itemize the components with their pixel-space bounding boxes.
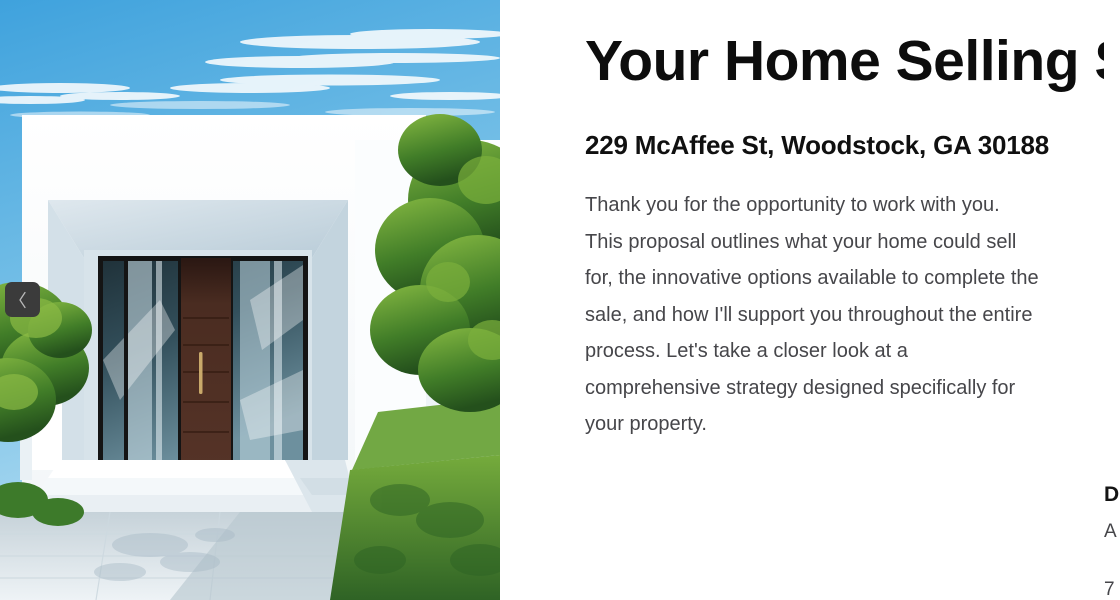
property-address-heading: 229 McAffee St, Woodstock, GA 30188 bbox=[585, 128, 1055, 163]
modern-white-house-illustration bbox=[0, 0, 500, 600]
chevron-left-icon bbox=[17, 291, 28, 309]
hero-image-panel bbox=[0, 0, 500, 600]
page-title: Your Home Selling Strategy bbox=[585, 26, 1120, 96]
content-inner: Your Home Selling Strategy 229 McAffee S… bbox=[585, 26, 1120, 443]
presentation-slide: Your Home Selling Strategy 229 McAffee S… bbox=[0, 0, 1120, 600]
slide-content-panel: Your Home Selling Strategy 229 McAffee S… bbox=[500, 0, 1120, 600]
edge-text-line-1: A bbox=[1104, 518, 1117, 546]
carousel-prev-button[interactable] bbox=[5, 282, 40, 317]
next-section-edge: D A 7 bbox=[1104, 0, 1120, 600]
edge-section-heading: D bbox=[1104, 481, 1119, 509]
intro-paragraph: Thank you for the opportunity to work wi… bbox=[585, 187, 1040, 443]
edge-text-line-2: 7 bbox=[1104, 576, 1115, 600]
door-handle bbox=[199, 352, 203, 394]
